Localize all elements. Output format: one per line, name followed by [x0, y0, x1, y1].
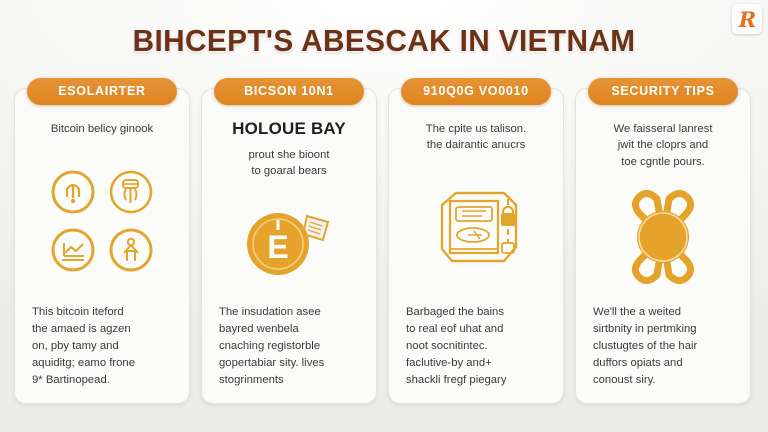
shield-arrow-icon: [47, 166, 99, 218]
line-chart-icon: [47, 224, 99, 276]
flower-rosette-icon: [611, 187, 715, 287]
card-subtitle-2: prout she bioont to goaral bears: [248, 147, 329, 180]
hand-coin-icon: [105, 166, 157, 218]
secure-document-lock-icon: [416, 183, 536, 275]
card-subtitle-3: The cpite us talison. the dairantic anuc…: [426, 121, 526, 154]
card-art-1: [26, 137, 178, 304]
card-body-1: This bitcoin iteford the amaed is agzen …: [26, 304, 178, 393]
card-heading-2: HOLOUE BAY: [232, 119, 346, 139]
infographic-canvas: R BIHCEPT'S ABESCAK IN VIETNAM ESOLAIRTE…: [0, 0, 768, 432]
icon-grid: [47, 166, 157, 276]
page-title: BIHCEPT'S ABESCAK IN VIETNAM: [15, 23, 752, 59]
card-body-4: We'll the a weited sirtbnity in pertmkin…: [587, 304, 739, 393]
info-card-3[interactable]: 910Q0G VO0010 The cpite us talison. the …: [388, 88, 564, 404]
card-row: ESOLAIRTER Bitcoin belicy ginook: [14, 88, 754, 404]
card-pill-2: BICSON 10N1: [214, 78, 364, 105]
coin-e-icon: E: [247, 213, 309, 275]
person-icon: [105, 224, 157, 276]
card-subtitle-1: Bitcoin belicy ginook: [51, 121, 153, 137]
card-art-2: E: [213, 180, 365, 305]
card-art-4: [587, 170, 739, 304]
info-card-4[interactable]: SECURITY TIPS We faisseral lanrest jwit …: [575, 88, 751, 404]
coin-with-banknote-icon: E: [233, 200, 345, 284]
padlock-icon: [501, 199, 515, 253]
info-card-1[interactable]: ESOLAIRTER Bitcoin belicy ginook: [14, 88, 190, 404]
info-card-2[interactable]: BICSON 10N1 HOLOUE BAY prout she bioont …: [201, 88, 377, 404]
card-body-2: The insudation asee bayred wenbela cnach…: [213, 304, 365, 393]
card-pill-4: SECURITY TIPS: [588, 78, 738, 105]
card-pill-1: ESOLAIRTER: [27, 78, 177, 105]
card-body-3: Barbaged the bains to real eof uhat and …: [400, 304, 552, 393]
card-subtitle-4: We faisseral lanrest jwit the cloprs and…: [614, 121, 713, 170]
svg-text:E: E: [267, 229, 288, 265]
card-art-3: [400, 154, 552, 305]
card-pill-3: 910Q0G VO0010: [401, 78, 551, 105]
